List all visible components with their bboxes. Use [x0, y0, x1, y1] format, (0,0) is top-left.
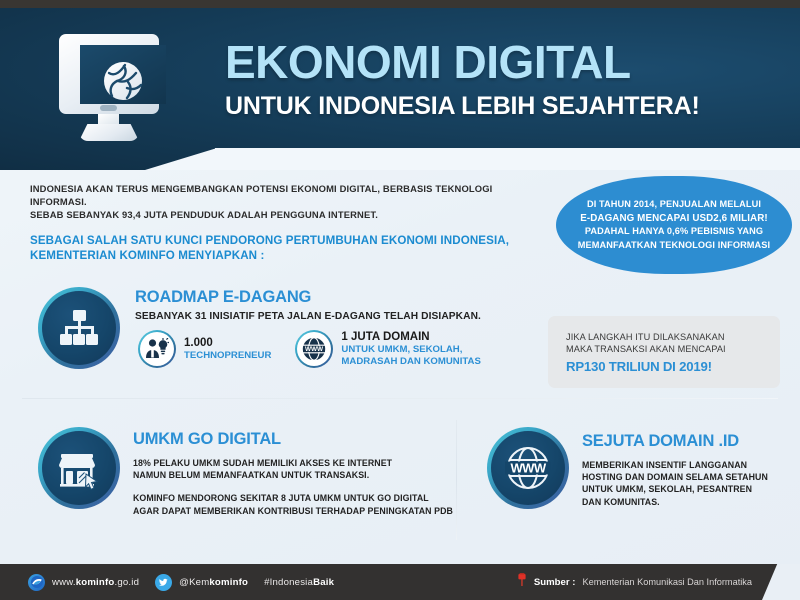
roadmap-stats-row: 1.000 TECHNOPRENEUR WWW: [138, 330, 538, 368]
footer-corner-cut: [762, 564, 800, 600]
top-strip: [0, 0, 800, 8]
note-line-2: MAKA TRANSAKSI AKAN MENCAPAI: [566, 343, 762, 356]
stat-domain-label-1: UNTUK UMKM, SEKOLAH,: [341, 344, 480, 356]
header-banner: EKONOMI DIGITAL UNTUK INDONESIA LEBIH SE…: [0, 8, 800, 170]
roadmap-title: ROADMAP E-DAGANG: [135, 288, 535, 307]
header-text-block: EKONOMI DIGITAL UNTUK INDONESIA LEBIH SE…: [225, 36, 785, 121]
domain-line-3: UNTUK UMKM, SEKOLAH, PESANTREN: [582, 483, 797, 495]
umkm-paragraph-1-line-2: NAMUN BELUM MEMANFAATKAN UNTUK TRANSAKSI…: [133, 469, 453, 481]
footer-hashtag[interactable]: #IndonesiaBaik: [264, 577, 334, 588]
bubble-line-3: PADAHAL HANYA 0,6% PEBISNIS YANG: [585, 226, 763, 236]
intro-highlight-1: SEBAGAI SALAH SATU KUNCI PENDORONG PERTU…: [30, 233, 550, 248]
footer-links: www.kominfo.go.id @Kemkominfo #Indonesia…: [28, 564, 334, 600]
footer-hashtag-text: #IndonesiaBaik: [264, 577, 334, 588]
stat-bubble: DI TAHUN 2014, PENJUALAN MELALUI E-DAGAN…: [556, 176, 792, 274]
footer-bar: www.kominfo.go.id @Kemkominfo #Indonesia…: [0, 564, 800, 600]
umkm-paragraph-2-line-2: AGAR DAPAT MEMBERIKAN KONTRIBUSI TERHADA…: [133, 505, 453, 517]
note-line-1: JIKA LANGKAH ITU DILAKSANAKAN: [566, 331, 762, 344]
stat-technopreneur-label: TECHNOPRENEUR: [184, 350, 271, 362]
domain-title: SEJUTA DOMAIN .ID: [582, 432, 797, 451]
roadmap-subtitle: SEBANYAK 31 INISIATIF PETA JALAN E-DAGAN…: [135, 311, 535, 322]
svg-text:WWW: WWW: [305, 346, 324, 353]
footer-twitter[interactable]: @Kemkominfo: [155, 574, 248, 591]
monitor-globe-icon: [45, 30, 175, 155]
note-highlight: RP130 TRILIUN DI 2019!: [566, 359, 762, 374]
footer-source-value: Kementerian Komunikasi Dan Informatika: [582, 577, 752, 587]
umkm-text-block: UMKM GO DIGITAL 18% PELAKU UMKM SUDAH ME…: [133, 430, 453, 517]
domain-line-1: MEMBERIKAN INSENTIF LANGGANAN: [582, 459, 797, 471]
www-globe-icon: WWW: [487, 427, 569, 509]
technopreneur-icon: [138, 330, 176, 368]
footer-source-label: Sumber :: [534, 577, 576, 588]
section-divider-vertical: [456, 420, 457, 540]
domain-text-block: SEJUTA DOMAIN .ID MEMBERIKAN INSENTIF LA…: [582, 432, 797, 508]
bubble-line-1: DI TAHUN 2014, PENJUALAN MELALUI: [587, 199, 761, 209]
projection-note-box: JIKA LANGKAH ITU DILAKSANAKAN MAKA TRANS…: [548, 316, 780, 388]
stat-domain-value: 1 JUTA DOMAIN: [341, 331, 480, 344]
storefront-cursor-icon: [38, 427, 120, 509]
stat-domain-text: 1 JUTA DOMAIN UNTUK UMKM, SEKOLAH, MADRA…: [341, 331, 480, 368]
footer-website-text: www.kominfo.go.id: [52, 577, 139, 588]
org-chart-icon: [38, 287, 120, 369]
intro-text-block: INDONESIA AKAN TERUS MENGEMBANGKAN POTEN…: [30, 182, 550, 263]
header-bottom-cut: [215, 148, 800, 170]
roadmap-text-block: ROADMAP E-DAGANG SEBANYAK 31 INISIATIF P…: [135, 288, 535, 322]
stat-technopreneur-text: 1.000 TECHNOPRENEUR: [184, 337, 271, 362]
footer-source: Sumber : Kementerian Komunikasi Dan Info…: [517, 564, 752, 600]
page-subtitle: UNTUK INDONESIA LEBIH SEJAHTERA!: [225, 91, 785, 121]
intro-line-1: INDONESIA AKAN TERUS MENGEMBANGKAN POTEN…: [30, 182, 550, 208]
page-title: EKONOMI DIGITAL: [225, 36, 785, 88]
intro-highlight-2: KEMENTERIAN KOMINFO MENYIAPKAN :: [30, 248, 550, 263]
bubble-line-4: MEMANFAATKAN TEKNOLOGI INFORMASI: [578, 240, 770, 250]
infographic-page: EKONOMI DIGITAL UNTUK INDONESIA LEBIH SE…: [0, 0, 800, 600]
pin-icon: [517, 573, 527, 592]
umkm-paragraph-2-line-1: KOMINFO MENDORONG SEKITAR 8 JUTA UMKM UN…: [133, 492, 453, 504]
bubble-line-2: E-DAGANG MENCAPAI USD2,6 MILIAR!: [580, 213, 768, 224]
www-globe-icon: WWW: [295, 330, 333, 368]
stat-technopreneur-value: 1.000: [184, 337, 271, 350]
kominfo-logo-icon: [28, 574, 45, 591]
footer-website[interactable]: www.kominfo.go.id: [28, 574, 139, 591]
intro-line-2: SEBAB SEBANYAK 93,4 JUTA PENDUDUK ADALAH…: [30, 208, 550, 221]
svg-text:WWW: WWW: [510, 460, 546, 475]
umkm-title: UMKM GO DIGITAL: [133, 430, 453, 449]
stat-technopreneur: 1.000 TECHNOPRENEUR: [138, 330, 271, 368]
footer-twitter-text: @Kemkominfo: [179, 577, 248, 588]
bubble-text: DI TAHUN 2014, PENJUALAN MELALUI E-DAGAN…: [578, 198, 770, 252]
stat-domain: WWW 1 JUTA DOMAIN UNTUK UMKM, SEKOLAH, M…: [295, 330, 480, 368]
section-divider-horizontal: [22, 398, 778, 399]
domain-line-4: DAN KOMUNITAS.: [582, 496, 797, 508]
twitter-icon: [155, 574, 172, 591]
umkm-paragraph-1-line-1: 18% PELAKU UMKM SUDAH MEMILIKI AKSES KE …: [133, 457, 453, 469]
stat-domain-label-2: MADRASAH DAN KOMUNITAS: [341, 356, 480, 368]
domain-line-2: HOSTING DAN DOMAIN SELAMA SETAHUN: [582, 471, 797, 483]
